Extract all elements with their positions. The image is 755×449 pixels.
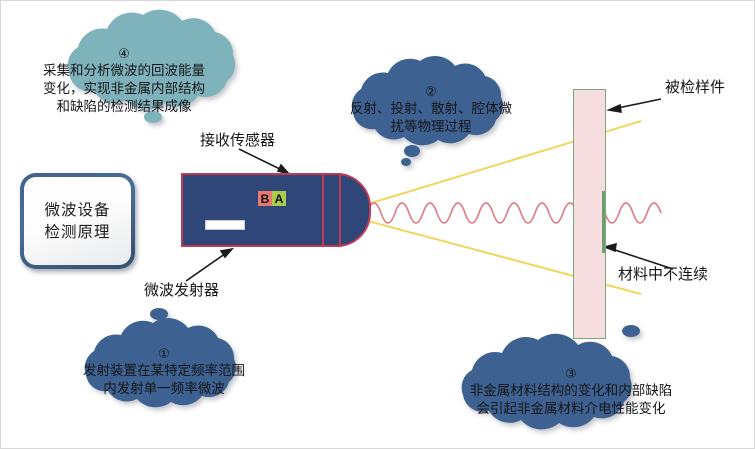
label-specimen-under-test: 被检样件 bbox=[665, 80, 725, 95]
device-slot bbox=[205, 220, 245, 230]
title-line-2: 检测原理 bbox=[44, 221, 110, 243]
diagram-canvas: 微波设备 检测原理 B A ④ 采集和分析微波的回波能量 变化，实现非金属内部结… bbox=[0, 0, 755, 449]
cloud-1: ① 发射装置在某特定频率范围 内发射单一频率微波 bbox=[74, 321, 254, 421]
label-receiver-sensor: 接收传感器 bbox=[200, 133, 275, 148]
cloud-1-text: ① 发射装置在某特定频率范围 内发射单一频率微波 bbox=[74, 347, 254, 399]
material-discontinuity-marker bbox=[602, 191, 605, 253]
cloud-2-line-2: 扰等物理过程 bbox=[341, 119, 521, 137]
device-indicator-group: B A bbox=[258, 191, 286, 206]
title-line-1: 微波设备 bbox=[44, 199, 110, 221]
cloud-1-number: ① bbox=[74, 347, 254, 363]
led-b: B bbox=[258, 191, 272, 206]
title-plaque-inner: 微波设备 检测原理 bbox=[24, 177, 131, 265]
cloud-2-line-1: 反射、投射、散射、腔体微 bbox=[341, 101, 521, 119]
cloud-2-number: ② bbox=[341, 85, 521, 101]
cloud-4-number: ④ bbox=[29, 47, 219, 63]
cloud-4-text: ④ 采集和分析微波的回波能量 变化，实现非金属内部结构 和缺陷的检测结果成像 bbox=[29, 47, 219, 117]
cloud-3-text: ③ 非金属材料结构的变化和内部缺陷 会引起非金属材料介电性能变化 bbox=[451, 367, 691, 419]
label-material-discontinuity: 材料中不连续 bbox=[618, 267, 708, 282]
title-plaque: 微波设备 检测原理 bbox=[20, 173, 135, 269]
label-microwave-transmitter: 微波发射器 bbox=[144, 283, 219, 298]
microwave-wave bbox=[367, 203, 661, 223]
cloud-3-line-2: 会引起非金属材料介电性能变化 bbox=[451, 401, 691, 419]
cloud-1-line-2: 内发射单一频率微波 bbox=[74, 381, 254, 399]
led-a: A bbox=[272, 191, 286, 206]
device-divider bbox=[322, 174, 324, 246]
device-nose bbox=[337, 173, 371, 247]
cloud-4-line-1: 采集和分析微波的回波能量 bbox=[29, 63, 219, 81]
cloud-4-line-3: 和缺陷的检测结果成像 bbox=[29, 99, 219, 117]
device-body bbox=[181, 173, 341, 247]
cloud-3-line-1: 非金属材料结构的变化和内部缺陷 bbox=[451, 383, 691, 401]
cloud-4: ④ 采集和分析微波的回波能量 变化，实现非金属内部结构 和缺陷的检测结果成像 bbox=[29, 19, 219, 131]
cloud-4-line-2: 变化，实现非金属内部结构 bbox=[29, 81, 219, 99]
cloud-3: ③ 非金属材料结构的变化和内部缺陷 会引起非金属材料介电性能变化 bbox=[451, 341, 691, 445]
cloud-1-line-1: 发射装置在某特定频率范围 bbox=[74, 363, 254, 381]
microwave-device: B A bbox=[181, 173, 367, 247]
cloud-3-number: ③ bbox=[451, 367, 691, 383]
cloud-2: ② 反射、投射、散射、腔体微 扰等物理过程 bbox=[341, 59, 521, 159]
cloud-2-text: ② 反射、投射、散射、腔体微 扰等物理过程 bbox=[341, 85, 521, 137]
